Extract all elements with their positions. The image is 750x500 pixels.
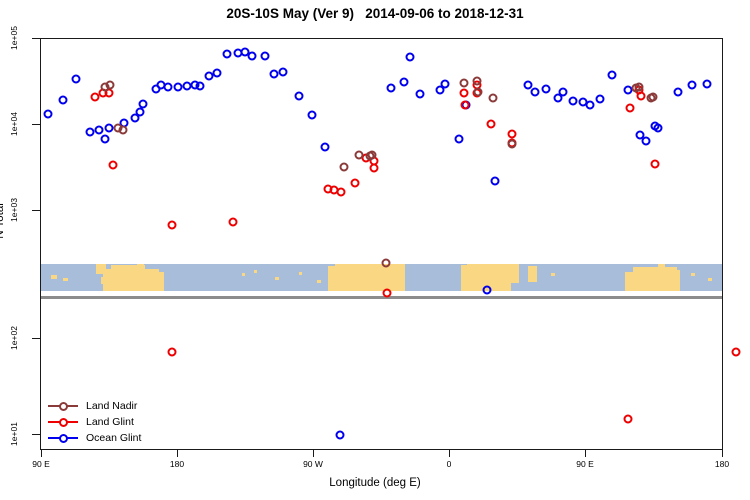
data-point-ocean bbox=[196, 82, 205, 91]
data-point-ocean bbox=[703, 80, 712, 89]
landmass-australia-west bbox=[103, 269, 159, 291]
landmass-australia2-peak bbox=[658, 264, 665, 273]
data-point-ocean bbox=[416, 90, 425, 99]
data-point-ocean bbox=[531, 88, 540, 97]
landmass-australia2-east bbox=[671, 270, 680, 291]
data-point-glint bbox=[168, 221, 177, 230]
data-point-ocean bbox=[387, 84, 396, 93]
data-point-ocean bbox=[596, 95, 605, 104]
y-tick-label: 1e+05 bbox=[9, 26, 19, 50]
data-point-nadir bbox=[340, 163, 349, 172]
data-point-glint bbox=[626, 104, 635, 113]
x-tick bbox=[313, 450, 314, 457]
legend-label: Land Glint bbox=[86, 414, 134, 430]
data-point-ocean bbox=[174, 83, 183, 92]
y-tick-label: 1e+04 bbox=[9, 112, 19, 136]
landmass-australia-east bbox=[154, 272, 164, 291]
data-point-ocean bbox=[213, 69, 222, 78]
data-point-ocean bbox=[308, 111, 317, 120]
x-tick bbox=[177, 450, 178, 457]
data-point-ocean bbox=[136, 108, 145, 117]
x-tick-label: 0 bbox=[447, 459, 452, 469]
x-tick bbox=[41, 450, 42, 457]
data-point-glint bbox=[351, 179, 360, 188]
x-tick-label: 90 E bbox=[576, 459, 594, 469]
data-point-ocean bbox=[654, 124, 663, 133]
data-point-ocean bbox=[483, 286, 492, 295]
y-tick-label: 1e+03 bbox=[9, 198, 19, 222]
data-point-nadir bbox=[508, 140, 517, 149]
data-point-glint bbox=[624, 415, 633, 424]
data-point-ocean bbox=[139, 100, 148, 109]
landmass-indonesia2 bbox=[51, 275, 57, 279]
landmass-pacific-island-a bbox=[242, 273, 245, 276]
world-map-band bbox=[41, 264, 722, 291]
landmass-australia-peak bbox=[137, 264, 144, 272]
x-axis-title: Longitude (deg E) bbox=[0, 477, 750, 489]
data-point-ocean bbox=[164, 83, 173, 92]
y-tick bbox=[32, 210, 40, 211]
data-point-ocean bbox=[295, 92, 304, 101]
x-tick-label: 90 W bbox=[303, 459, 323, 469]
data-point-nadir bbox=[460, 79, 469, 88]
data-point-glint bbox=[637, 92, 646, 101]
landmass-pacific-island-e bbox=[317, 280, 321, 283]
data-point-glint bbox=[460, 89, 469, 98]
y-tick-label: 1e+01 bbox=[9, 422, 19, 446]
data-point-nadir bbox=[382, 259, 391, 268]
data-point-nadir bbox=[474, 88, 483, 97]
chart-title: 20S-10S May (Ver 9) 2014-09-06 to 2018-1… bbox=[0, 6, 750, 21]
data-point-ocean bbox=[95, 126, 104, 135]
data-point-nadir bbox=[635, 83, 644, 92]
x-tick-label: 180 bbox=[170, 459, 184, 469]
landmass-pacific-island-c bbox=[275, 277, 279, 280]
axis-break-separator bbox=[41, 296, 722, 299]
y-tick-label-wrap: 1e+01 bbox=[0, 416, 28, 452]
x-tick bbox=[585, 450, 586, 457]
data-point-ocean bbox=[688, 81, 697, 90]
data-point-glint bbox=[508, 130, 517, 139]
data-point-ocean bbox=[44, 110, 53, 119]
y-tick bbox=[32, 338, 40, 339]
data-point-glint bbox=[383, 289, 392, 298]
data-point-ocean bbox=[248, 52, 257, 61]
legend-label: Ocean Glint bbox=[86, 430, 141, 446]
data-point-glint bbox=[461, 101, 470, 110]
landmass-pacific-island-d bbox=[299, 272, 302, 275]
y-tick-label-wrap: 1e+05 bbox=[0, 20, 28, 56]
data-point-ocean bbox=[270, 70, 279, 79]
data-point-nadir bbox=[355, 151, 364, 160]
landmass-pacific-island-h bbox=[708, 278, 712, 281]
data-point-nadir bbox=[119, 126, 128, 135]
data-point-ocean bbox=[105, 124, 114, 133]
data-point-glint bbox=[651, 160, 660, 169]
data-point-glint bbox=[487, 120, 496, 129]
data-point-ocean bbox=[608, 71, 617, 80]
data-point-glint bbox=[732, 348, 741, 357]
data-point-ocean bbox=[101, 135, 110, 144]
chart-canvas: 20S-10S May (Ver 9) 2014-09-06 to 2018-1… bbox=[0, 0, 750, 500]
landmass-indian-ocean-isl bbox=[551, 273, 555, 276]
x-tick bbox=[449, 450, 450, 457]
landmass-africa-body bbox=[467, 264, 519, 283]
data-point-ocean bbox=[336, 431, 345, 440]
data-point-ocean bbox=[559, 88, 568, 97]
landmass-south-america-north bbox=[341, 264, 399, 272]
y-tick bbox=[32, 38, 40, 39]
data-point-ocean bbox=[455, 135, 464, 144]
data-point-ocean bbox=[569, 97, 578, 106]
data-point-ocean bbox=[586, 101, 595, 110]
data-point-glint bbox=[168, 348, 177, 357]
landmass-pacific-island-b bbox=[254, 270, 257, 273]
data-point-ocean bbox=[542, 85, 551, 94]
data-point-nadir bbox=[368, 151, 377, 160]
y-tick-label: 1e+02 bbox=[9, 326, 19, 350]
data-point-nadir bbox=[473, 77, 482, 86]
data-point-ocean bbox=[674, 88, 683, 97]
data-point-ocean bbox=[321, 143, 330, 152]
data-point-ocean bbox=[261, 52, 270, 61]
y-tick bbox=[32, 434, 40, 435]
data-point-ocean bbox=[400, 78, 409, 87]
data-point-glint bbox=[370, 164, 379, 173]
x-tick bbox=[722, 450, 723, 457]
legend-label: Land Nadir bbox=[86, 398, 137, 414]
y-tick-label-wrap: 1e+02 bbox=[0, 320, 28, 356]
data-point-nadir bbox=[106, 81, 115, 90]
data-point-nadir bbox=[489, 94, 498, 103]
data-point-ocean bbox=[642, 137, 651, 146]
data-point-ocean bbox=[86, 128, 95, 137]
data-point-nadir bbox=[647, 94, 656, 103]
x-tick-label: 90 E bbox=[32, 459, 50, 469]
landmass-madagascar bbox=[528, 266, 537, 282]
data-point-glint bbox=[229, 218, 238, 227]
data-point-glint bbox=[337, 188, 346, 197]
landmass-pacific-island-g bbox=[691, 273, 695, 276]
y-tick-label-wrap: 1e+04 bbox=[0, 106, 28, 142]
data-point-ocean bbox=[441, 80, 450, 89]
data-point-ocean bbox=[406, 53, 415, 62]
data-point-ocean bbox=[223, 50, 232, 59]
landmass-indonesia2b bbox=[63, 278, 68, 281]
data-point-ocean bbox=[279, 68, 288, 77]
y-tick bbox=[32, 124, 40, 125]
data-point-ocean bbox=[59, 96, 68, 105]
data-point-ocean bbox=[491, 177, 500, 186]
y-axis-title: N Total bbox=[0, 203, 6, 239]
data-point-ocean bbox=[72, 75, 81, 84]
data-point-glint bbox=[109, 161, 118, 170]
x-tick-label: 180 bbox=[715, 459, 729, 469]
